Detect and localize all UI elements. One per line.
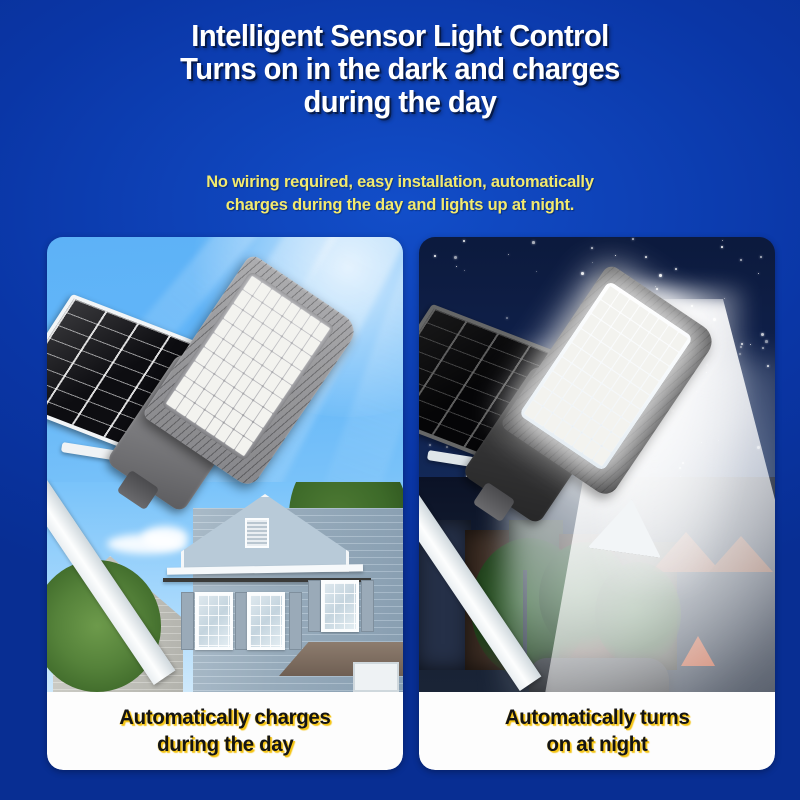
- day-ground-scene: [47, 482, 403, 692]
- headline-line-2: Turns on in the dark and charges: [48, 52, 751, 85]
- star-icon: [660, 304, 663, 307]
- star-icon: [635, 291, 638, 294]
- window-shutter: [308, 580, 321, 632]
- star-icon: [762, 347, 764, 349]
- star-icon: [522, 394, 524, 396]
- star-icon: [613, 321, 616, 324]
- road-sign: [681, 636, 715, 666]
- caption-night: Automatically turns on at night: [419, 692, 775, 770]
- caption-day-line-1: Automatically charges: [119, 704, 330, 731]
- gable-vent: [245, 518, 269, 548]
- product-banner: Intelligent Sensor Light Control Turns o…: [0, 0, 800, 800]
- star-icon: [761, 333, 764, 336]
- star-icon: [440, 436, 443, 439]
- window-shutter: [181, 592, 194, 650]
- garage-door: [353, 662, 399, 692]
- photo-night: [419, 237, 775, 692]
- star-icon: [741, 343, 743, 345]
- star-icon: [644, 406, 646, 408]
- star-icon: [767, 365, 769, 367]
- street-post: [523, 570, 527, 662]
- star-icon: [630, 343, 633, 346]
- star-icon: [465, 354, 467, 356]
- star-icon: [674, 377, 676, 379]
- star-icon: [470, 339, 471, 340]
- star-icon: [655, 351, 658, 354]
- star-icon: [612, 308, 614, 310]
- star-icon: [483, 361, 484, 362]
- star-icon: [757, 446, 760, 449]
- star-icon: [706, 364, 708, 366]
- caption-day: Automatically charges during the day: [47, 692, 403, 770]
- star-icon: [506, 317, 508, 319]
- star-icon: [713, 318, 716, 321]
- star-icon: [591, 247, 593, 249]
- star-icon: [675, 268, 677, 270]
- star-icon: [665, 320, 668, 323]
- star-icon: [454, 256, 457, 259]
- star-icon: [609, 408, 612, 411]
- window-shutter: [289, 592, 302, 650]
- star-icon: [740, 346, 742, 348]
- roof: [709, 536, 773, 572]
- star-icon: [645, 256, 647, 258]
- star-icon: [656, 288, 658, 290]
- star-icon: [576, 422, 579, 425]
- star-icon: [632, 238, 634, 240]
- star-icon: [644, 323, 646, 325]
- star-icon: [446, 446, 448, 448]
- star-icon: [584, 316, 586, 318]
- subheadline-block: No wiring required, easy installation, a…: [0, 170, 800, 216]
- star-icon: [626, 337, 629, 340]
- photo-day: [47, 237, 403, 692]
- panel-night: Automatically turns on at night: [419, 237, 775, 770]
- star-icon: [478, 390, 480, 392]
- house-window: [321, 580, 359, 632]
- star-icon: [659, 274, 662, 277]
- star-icon: [532, 241, 535, 244]
- star-icon: [765, 340, 768, 343]
- star-icon: [721, 246, 723, 248]
- star-icon: [613, 464, 616, 467]
- subheadline-line-2: charges during the day and lights up at …: [70, 193, 730, 216]
- tree-icon: [595, 562, 681, 666]
- night-street-scene: [419, 477, 775, 692]
- headline-block: Intelligent Sensor Light Control Turns o…: [0, 19, 800, 118]
- star-icon: [591, 365, 593, 367]
- house-window: [247, 592, 285, 650]
- headline-line-1: Intelligent Sensor Light Control: [48, 19, 751, 52]
- panel-day: Automatically charges during the day: [47, 237, 403, 770]
- star-icon: [553, 379, 556, 382]
- window-shutter: [361, 580, 374, 632]
- star-icon: [581, 272, 584, 275]
- caption-night-line-2: on at night: [547, 731, 648, 758]
- star-icon: [497, 357, 498, 358]
- house-window: [195, 592, 233, 650]
- building: [419, 520, 471, 670]
- star-icon: [608, 294, 611, 297]
- star-icon: [760, 256, 762, 258]
- headline-line-3: during the day: [48, 85, 751, 118]
- star-icon: [682, 462, 684, 464]
- star-icon: [691, 305, 693, 307]
- caption-day-line-2: during the day: [157, 731, 293, 758]
- star-icon: [525, 441, 527, 443]
- star-icon: [679, 467, 681, 469]
- parked-car: [529, 658, 669, 692]
- star-icon: [636, 377, 638, 379]
- caption-night-line-1: Automatically turns: [505, 704, 690, 731]
- subheadline-line-1: No wiring required, easy installation, a…: [70, 170, 730, 193]
- star-icon: [758, 273, 759, 274]
- star-icon: [724, 298, 725, 299]
- star-icon: [581, 305, 583, 307]
- star-icon: [671, 409, 674, 412]
- cloud-icon: [142, 526, 188, 548]
